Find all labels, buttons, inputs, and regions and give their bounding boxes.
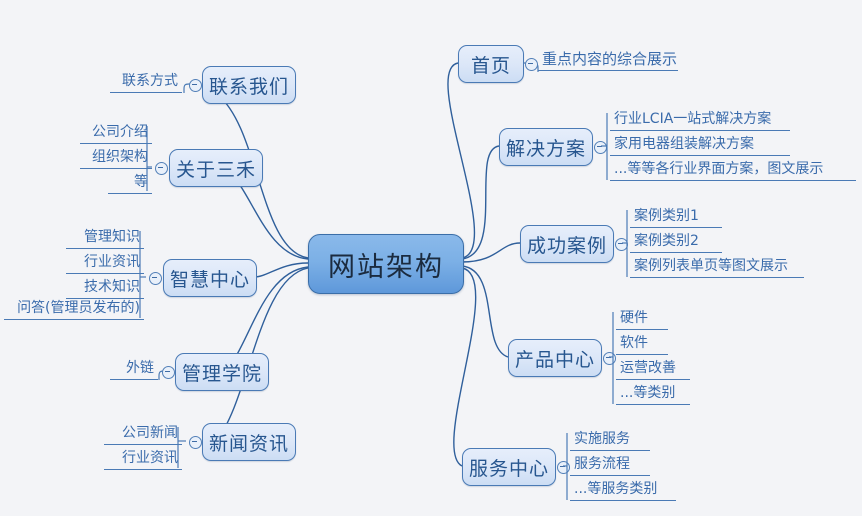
leaf-management-academy-0[interactable]: 外链 bbox=[110, 360, 158, 380]
leaf-success-cases-1[interactable]: 案例类别2 bbox=[630, 233, 722, 253]
leaf-success-cases-0[interactable]: 案例类别1 bbox=[630, 208, 722, 228]
branch-node-wisdom-center[interactable]: 智慧中心 bbox=[163, 259, 257, 297]
branch-label-success-cases: 成功案例 bbox=[527, 231, 607, 258]
collapse-toggle-service-center[interactable] bbox=[557, 461, 570, 474]
leaf-product-center-3[interactable]: ...等类别 bbox=[616, 385, 690, 405]
leaf-product-center-0[interactable]: 硬件 bbox=[616, 310, 668, 330]
branch-node-contact-us[interactable]: 联系我们 bbox=[202, 66, 296, 104]
leaf-service-center-2[interactable]: ...等服务类别 bbox=[570, 481, 676, 501]
collapse-toggle-news[interactable] bbox=[189, 436, 202, 449]
leaf-solutions-1[interactable]: 家用电器组装解决方案 bbox=[610, 136, 790, 156]
leaf-wisdom-center-2[interactable]: 技术知识 bbox=[66, 279, 144, 299]
branch-node-homepage[interactable]: 首页 bbox=[458, 45, 524, 83]
branch-node-about-sanhe[interactable]: 关于三禾 bbox=[169, 149, 263, 187]
leaf-news-1[interactable]: 行业资讯 bbox=[104, 450, 182, 470]
leaf-success-cases-2[interactable]: 案例列表单页等图文展示 bbox=[630, 258, 804, 278]
branch-label-news: 新闻资讯 bbox=[209, 429, 289, 456]
leaf-product-center-1[interactable]: 软件 bbox=[616, 335, 668, 355]
branch-label-solutions: 解决方案 bbox=[506, 134, 586, 161]
leaf-wisdom-center-1[interactable]: 行业资讯 bbox=[66, 254, 144, 274]
leaf-wisdom-center-3[interactable]: 问答(管理员发布的) bbox=[4, 300, 144, 320]
collapse-toggle-solutions[interactable] bbox=[594, 141, 607, 154]
branch-label-wisdom-center: 智慧中心 bbox=[170, 265, 250, 292]
leaf-solutions-2[interactable]: ...等等各行业界面方案，图文展示 bbox=[610, 161, 856, 181]
leaf-service-center-0[interactable]: 实施服务 bbox=[570, 431, 650, 451]
branch-label-homepage: 首页 bbox=[471, 51, 511, 78]
branch-node-solutions[interactable]: 解决方案 bbox=[499, 128, 593, 166]
branch-node-success-cases[interactable]: 成功案例 bbox=[520, 225, 614, 263]
collapse-toggle-about-sanhe[interactable] bbox=[155, 162, 168, 175]
mindmap-canvas: 网站架构 联系我们 联系方式 关于三禾 公司介绍 组织架构 等 智慧中心 管理知… bbox=[0, 0, 862, 516]
leaf-product-center-2[interactable]: 运营改善 bbox=[616, 360, 690, 380]
collapse-toggle-homepage[interactable] bbox=[525, 58, 538, 71]
leaf-wisdom-center-0[interactable]: 管理知识 bbox=[66, 229, 144, 249]
collapse-toggle-management-academy[interactable] bbox=[162, 366, 175, 379]
collapse-toggle-product-center[interactable] bbox=[603, 352, 616, 365]
branch-label-service-center: 服务中心 bbox=[469, 454, 549, 481]
leaf-service-center-1[interactable]: 服务流程 bbox=[570, 456, 650, 476]
branch-node-service-center[interactable]: 服务中心 bbox=[462, 448, 556, 486]
branch-label-about-sanhe: 关于三禾 bbox=[176, 155, 256, 182]
collapse-toggle-success-cases[interactable] bbox=[615, 238, 628, 251]
leaf-solutions-0[interactable]: 行业LCIA一站式解决方案 bbox=[610, 111, 790, 131]
leaf-contact-us-0[interactable]: 联系方式 bbox=[110, 73, 182, 93]
central-node[interactable]: 网站架构 bbox=[308, 234, 464, 294]
branch-label-product-center: 产品中心 bbox=[515, 345, 595, 372]
branch-node-product-center[interactable]: 产品中心 bbox=[508, 339, 602, 377]
branch-node-news[interactable]: 新闻资讯 bbox=[202, 423, 296, 461]
leaf-about-sanhe-0[interactable]: 公司介绍 bbox=[80, 124, 152, 144]
leaf-news-0[interactable]: 公司新闻 bbox=[104, 425, 182, 445]
leaf-about-sanhe-2[interactable]: 等 bbox=[108, 174, 152, 194]
branch-node-management-academy[interactable]: 管理学院 bbox=[175, 353, 269, 391]
branch-label-contact-us: 联系我们 bbox=[209, 72, 289, 99]
collapse-toggle-wisdom-center[interactable] bbox=[149, 272, 162, 285]
branch-label-management-academy: 管理学院 bbox=[182, 359, 262, 386]
leaf-about-sanhe-1[interactable]: 组织架构 bbox=[80, 149, 152, 169]
central-node-label: 网站架构 bbox=[328, 245, 444, 284]
collapse-toggle-contact-us[interactable] bbox=[189, 79, 202, 92]
leaf-homepage-0[interactable]: 重点内容的综合展示 bbox=[538, 51, 678, 71]
